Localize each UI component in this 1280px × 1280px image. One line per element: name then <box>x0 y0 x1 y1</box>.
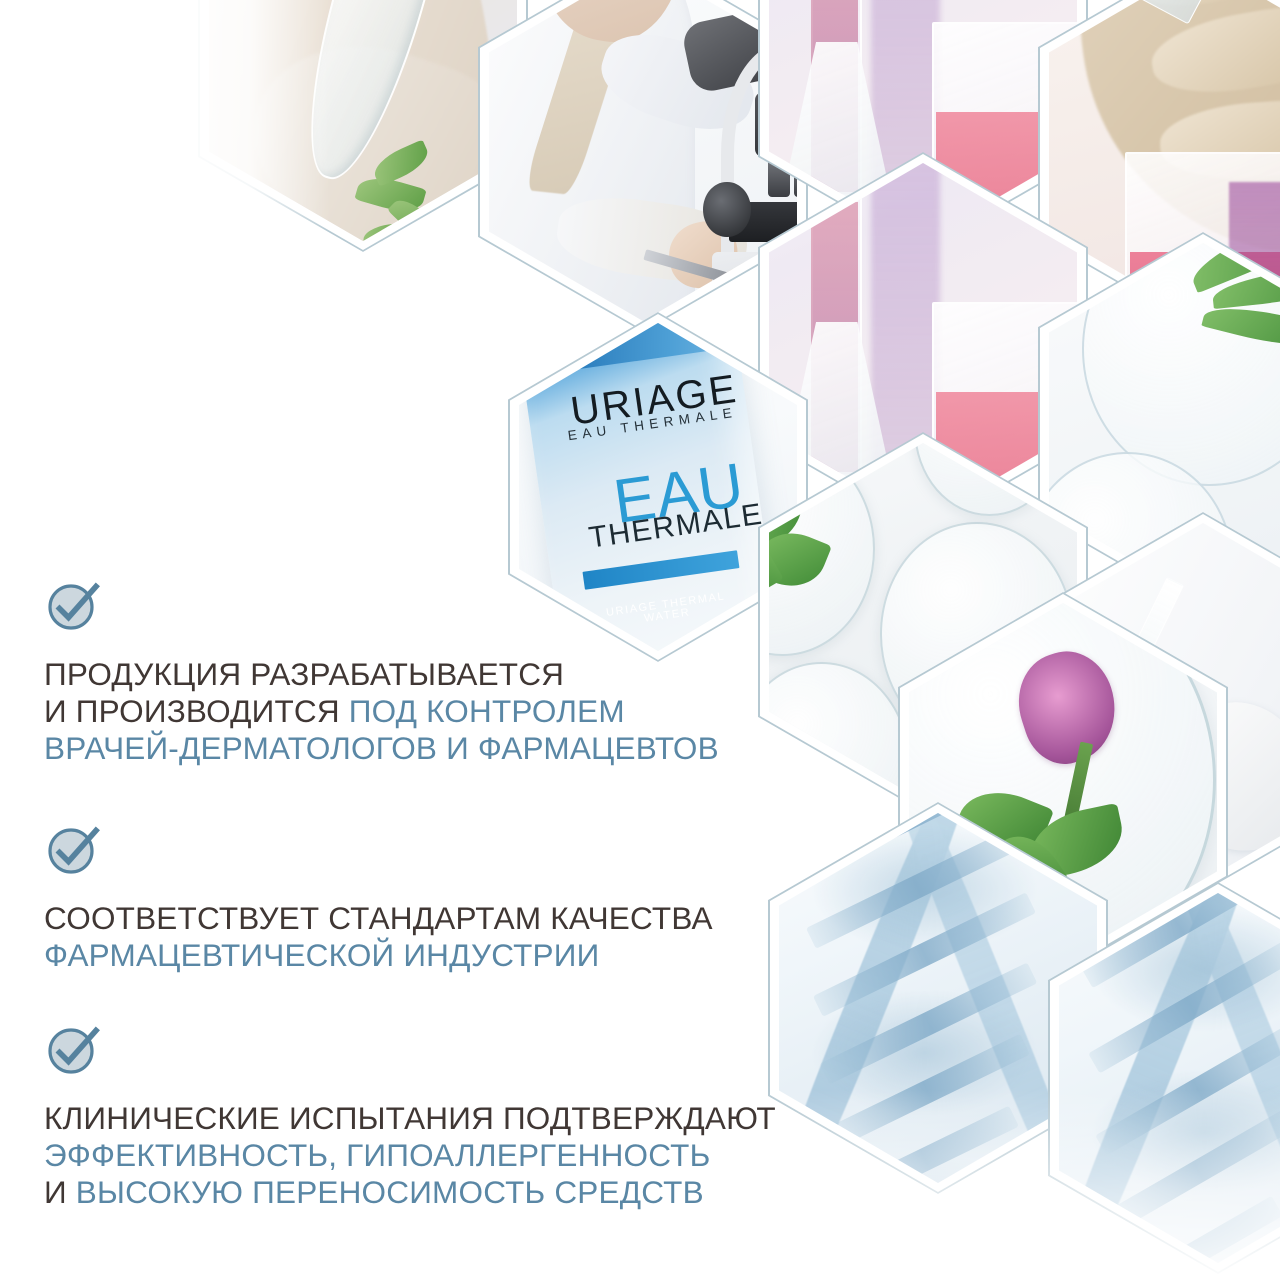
benefit-item-3: КЛИНИЧЕСКИЕ ИСПЫТАНИЯ ПОДТВЕРЖДАЮТ ЭФФЕК… <box>44 1022 776 1211</box>
benefit-text-1: ПРОДУКЦИЯ РАЗРАБАТЫВАЕТСЯ И ПРОИЗВОДИТСЯ… <box>44 656 719 767</box>
benefit-3-line-3b: ВЫСОКУЮ ПЕРЕНОСИМОСТЬ СРЕДСТВ <box>76 1174 704 1210</box>
infographic-canvas: URIAGE EAU THERMALE EAU THERMALE URIAGE … <box>0 0 1280 1280</box>
check-circle-icon <box>44 578 100 634</box>
benefit-3-line-2: ЭФФЕКТИВНОСТЬ, ГИПОАЛЛЕРГЕННОСТЬ <box>44 1137 710 1173</box>
benefit-3-line-3a: И <box>44 1174 76 1210</box>
benefit-text-3: КЛИНИЧЕСКИЕ ИСПЫТАНИЯ ПОДТВЕРЖДАЮТ ЭФФЕК… <box>44 1100 776 1211</box>
benefit-2-line-1: СООТВЕТСТВУЕТ СТАНДАРТАМ КАЧЕСТВА <box>44 900 713 936</box>
benefit-1-line-1: ПРОДУКЦИЯ РАЗРАБАТЫВАЕТСЯ <box>44 656 564 692</box>
benefit-item-1: ПРОДУКЦИЯ РАЗРАБАТЫВАЕТСЯ И ПРОИЗВОДИТСЯ… <box>44 578 719 767</box>
check-circle-icon <box>44 822 100 878</box>
benefit-3-line-1: КЛИНИЧЕСКИЕ ИСПЫТАНИЯ ПОДТВЕРЖДАЮТ <box>44 1100 776 1136</box>
benefit-2-line-2: ФАРМАЦЕВТИЧЕСКОЙ ИНДУСТРИИ <box>44 937 599 973</box>
benefit-item-2: СООТВЕТСТВУЕТ СТАНДАРТАМ КАЧЕСТВА ФАРМАЦ… <box>44 822 713 974</box>
check-circle-icon <box>44 1022 100 1078</box>
benefit-1-line-3: ВРАЧЕЙ-ДЕРМАТОЛОГОВ И ФАРМАЦЕВТОВ <box>44 730 719 766</box>
benefit-1-line-2a: И ПРОИЗВОДИТСЯ <box>44 693 349 729</box>
benefit-text-2: СООТВЕТСТВУЕТ СТАНДАРТАМ КАЧЕСТВА ФАРМАЦ… <box>44 900 713 974</box>
benefits-list: ПРОДУКЦИЯ РАЗРАБАТЫВАЕТСЯ И ПРОИЗВОДИТСЯ… <box>0 0 800 1280</box>
benefit-1-line-2b: ПОД КОНТРОЛЕМ <box>349 693 625 729</box>
